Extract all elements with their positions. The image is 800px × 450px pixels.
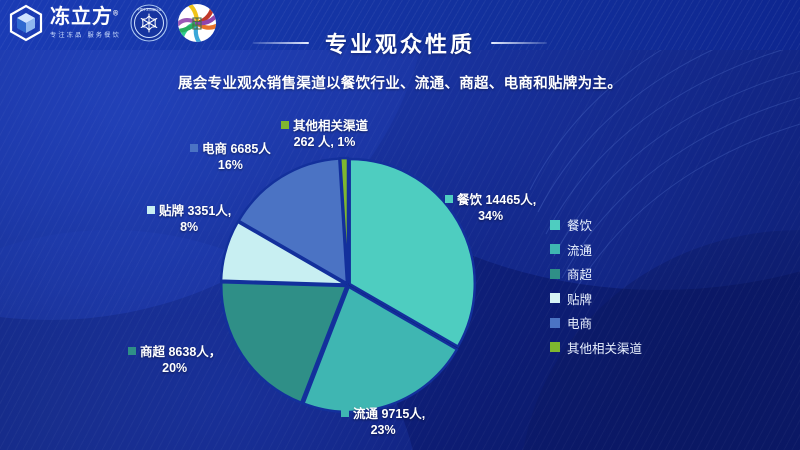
legend-swatch-icon (550, 318, 560, 328)
pie-chart-svg (196, 140, 506, 440)
brand-name: 冻立方® (50, 7, 121, 27)
pie-chart: 其他相关渠道 262 人, 1% 电商 6685人 16% 贴牌 3351人, … (0, 0, 800, 450)
pie-label-value-ecommerce: 16% (190, 157, 271, 173)
title-rule-left (253, 42, 309, 44)
pie-label-text-other: 其他相关渠道 (293, 119, 368, 133)
legend-label: 商超 (567, 264, 592, 283)
pie-label-value-oem: 8% (147, 219, 231, 235)
pie-label-value-other: 262 人, 1% (281, 134, 368, 150)
pie-label-text-oem: 贴牌 3351人, (159, 204, 231, 218)
page-subtitle: 展会专业观众销售渠道以餐饮行业、流通、商超、电商和贴牌为主。 (0, 72, 800, 93)
brand-name-text: 冻立方 (50, 6, 113, 28)
pie-label-swatch-other (281, 121, 289, 129)
legend-swatch-icon (550, 220, 560, 230)
pie-label-swatch-oem (147, 206, 155, 214)
legend-label: 餐饮 (567, 215, 592, 234)
legend-swatch-icon (550, 269, 560, 279)
legend-item[interactable]: 商超 (550, 264, 642, 283)
pie-label-catering: 餐饮 14465人, 34% (445, 192, 536, 224)
legend-label: 电商 (567, 313, 592, 332)
pie-label-swatch-distribution (341, 409, 349, 417)
legend-label: 贴牌 (567, 289, 592, 308)
pie-label-oem: 贴牌 3351人, 8% (147, 203, 231, 235)
pie-label-swatch-supermarket (128, 347, 136, 355)
legend-label: 其他相关渠道 (567, 338, 642, 357)
pie-label-value-catering: 34% (445, 208, 536, 224)
pie-label-supermarket: 商超 8638人， 20% (128, 344, 221, 376)
legend-item[interactable]: 流通 (550, 240, 642, 259)
page-title: 专业观众性质 (325, 27, 475, 59)
brand-registered-mark: ® (113, 10, 119, 17)
legend-swatch-icon (550, 293, 560, 303)
pie-label-value-distribution: 23% (341, 422, 425, 438)
legend-label: 流通 (567, 240, 592, 259)
pie-label-value-supermarket: 20% (128, 360, 221, 376)
title-rule-right (491, 42, 547, 44)
legend-item[interactable]: 电商 (550, 313, 642, 332)
pie-label-other: 其他相关渠道 262 人, 1% (281, 118, 368, 150)
legend-item[interactable]: 贴牌 (550, 289, 642, 308)
pie-label-distribution: 流通 9715人, 23% (341, 406, 425, 438)
legend-swatch-icon (550, 342, 560, 352)
pie-label-text-catering: 餐饮 14465人, (457, 193, 536, 207)
pie-label-text-supermarket: 商超 8638人， (140, 345, 221, 359)
seal-label: 中国冷冻食品行业 (137, 7, 162, 12)
chart-legend: 餐饮流通商超贴牌电商其他相关渠道 (550, 215, 642, 357)
pie-label-text-distribution: 流通 9715人, (353, 407, 425, 421)
pie-label-text-ecommerce: 电商 6685人 (202, 142, 271, 156)
pie-label-swatch-catering (445, 195, 453, 203)
legend-item[interactable]: 其他相关渠道 (550, 338, 642, 357)
pie-label-ecommerce: 电商 6685人 16% (190, 141, 271, 173)
page-title-row: 专业观众性质 (0, 27, 800, 59)
pie-label-swatch-ecommerce (190, 144, 198, 152)
legend-swatch-icon (550, 244, 560, 254)
legend-item[interactable]: 餐饮 (550, 215, 642, 234)
